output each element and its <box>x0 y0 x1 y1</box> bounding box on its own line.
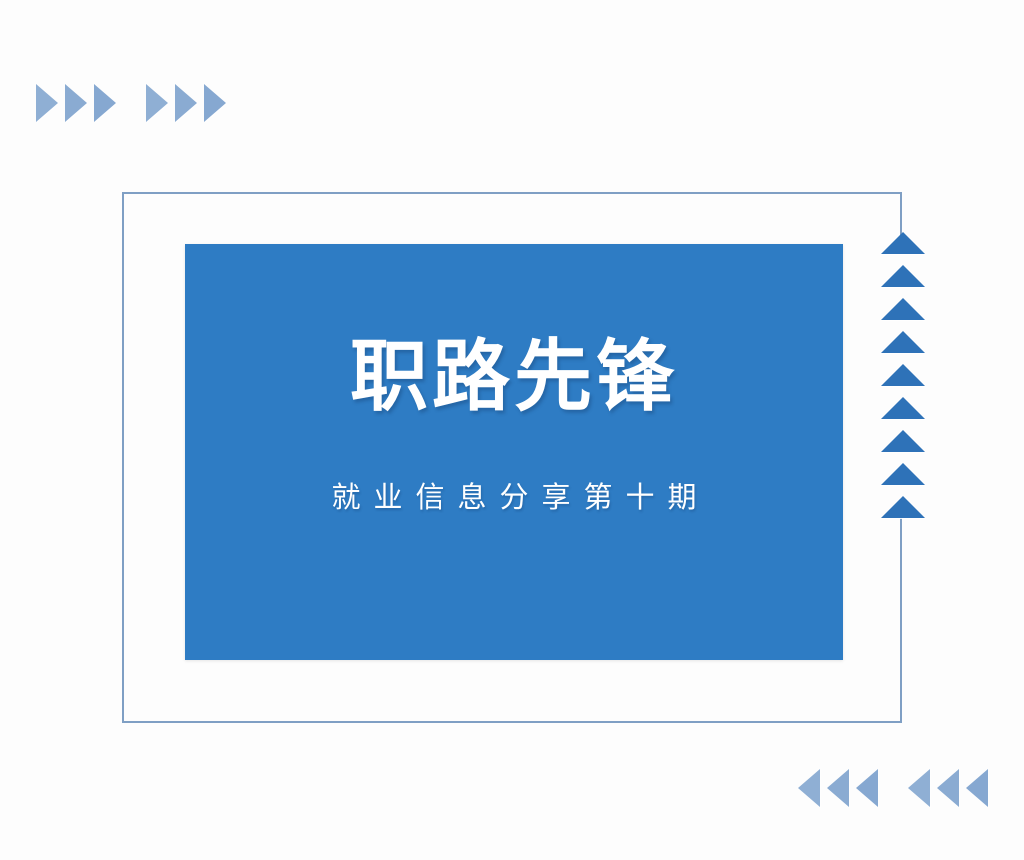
page-subtitle: 就业信息分享第十期 <box>318 474 709 516</box>
triangle-right-icon <box>36 84 58 122</box>
triangle-up-icon <box>881 298 925 320</box>
triangle-up-icon <box>881 265 925 287</box>
arrow-group <box>798 769 885 807</box>
triangle-up-icon <box>881 331 925 353</box>
triangle-up-icon <box>881 463 925 485</box>
triangle-left-icon <box>856 769 878 807</box>
bottom-right-arrow-cluster <box>798 769 995 807</box>
slide-canvas: 职路先锋 就业信息分享第十期 <box>0 0 1024 860</box>
triangle-up-icon <box>881 364 925 386</box>
triangle-right-icon <box>94 84 116 122</box>
triangle-left-icon <box>827 769 849 807</box>
triangle-right-icon <box>146 84 168 122</box>
arrow-group <box>146 84 233 122</box>
arrow-group <box>36 84 123 122</box>
triangle-up-icon <box>881 232 925 254</box>
top-left-arrow-cluster <box>36 84 233 122</box>
triangle-up-icon <box>881 397 925 419</box>
triangle-right-icon <box>204 84 226 122</box>
triangle-left-icon <box>908 769 930 807</box>
page-title: 职路先锋 <box>350 336 678 418</box>
triangle-left-icon <box>937 769 959 807</box>
triangle-left-icon <box>966 769 988 807</box>
triangle-left-icon <box>798 769 820 807</box>
triangle-right-icon <box>65 84 87 122</box>
triangle-right-icon <box>175 84 197 122</box>
arrow-group <box>908 769 995 807</box>
triangle-up-icon <box>881 496 925 518</box>
title-panel: 职路先锋 就业信息分享第十期 <box>185 244 843 660</box>
triangle-up-icon <box>881 430 925 452</box>
right-arrow-column <box>881 232 925 518</box>
